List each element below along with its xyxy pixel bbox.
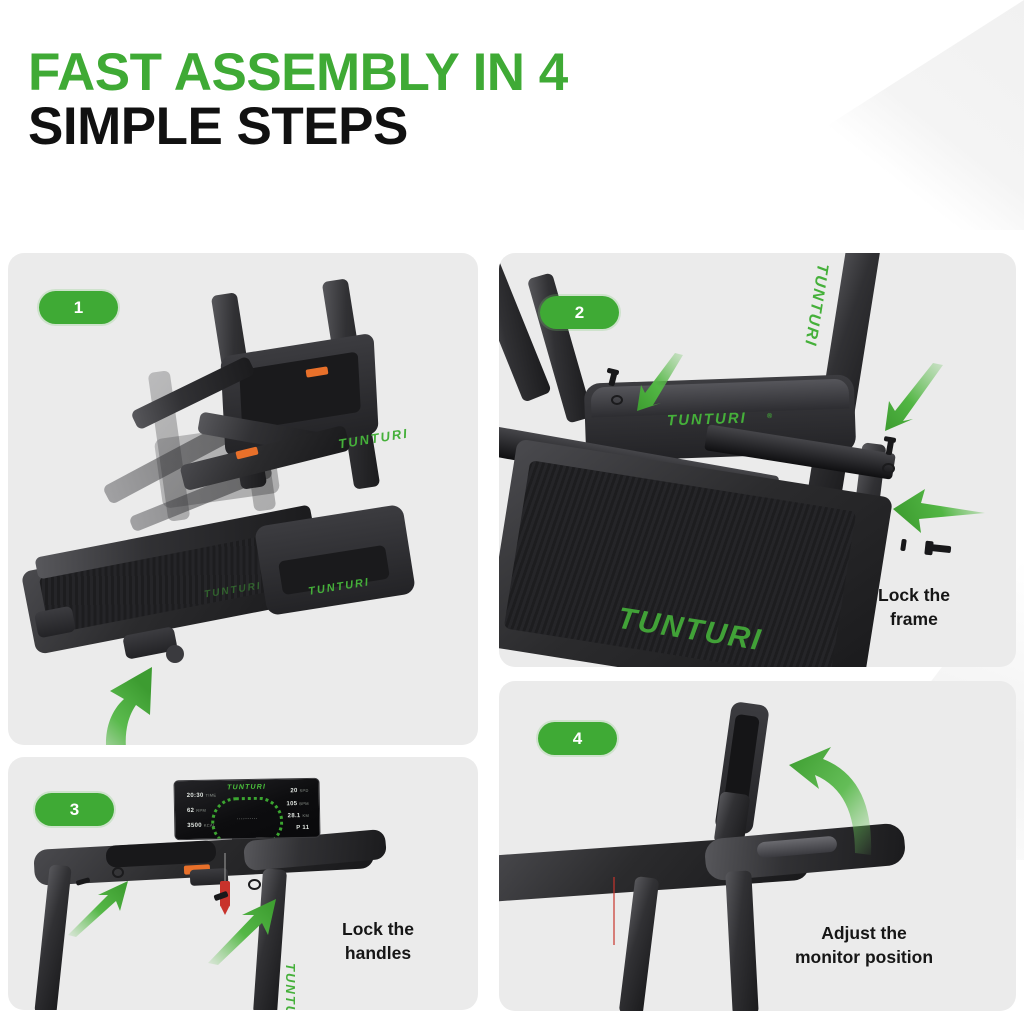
step-4-panel: 4 Adjust the monitor position	[499, 681, 1016, 1011]
registered-mark: ®	[767, 413, 774, 420]
safety-key-icon	[214, 853, 236, 919]
step-2-caption: Lock the frame	[829, 583, 999, 631]
step-3-badge: 3	[35, 793, 114, 826]
page-title: FAST ASSEMBLY IN 4 SIMPLE STEPS	[28, 47, 568, 153]
down-left-arrow-icon	[869, 363, 947, 439]
washer-icon	[882, 463, 895, 474]
bolt-head-icon	[884, 436, 897, 443]
step-2-panel: TUNTURI TUNTURI ® TUNTURI	[499, 253, 1016, 667]
washer-icon	[112, 867, 124, 878]
transport-wheel	[166, 645, 184, 663]
step-3-illustration: TUNTURI ........... 20:30 TIME 62 RPM 35…	[8, 757, 478, 1010]
readout-speed: 20 SPD	[290, 788, 308, 794]
step-4-badge: 4	[538, 722, 617, 755]
step-2-badge: 2	[540, 296, 619, 329]
readout-distance: 28.1 KM	[288, 813, 310, 819]
readout-bpm: 105 BPM	[286, 801, 309, 807]
readout-time: 20:30 TIME	[187, 793, 217, 800]
step-1-panel: TUNTURI TUNTURI TUNTURI 1 Set the frame …	[8, 253, 478, 745]
left-arrow-icon	[891, 483, 987, 539]
step-1-illustration: TUNTURI TUNTURI TUNTURI 1	[8, 253, 478, 745]
bolt-head-icon	[607, 368, 620, 376]
bolt-head-icon	[924, 541, 933, 556]
readout-program: P 11	[296, 825, 309, 831]
console-brand-logo: TUNTURI	[227, 784, 266, 792]
up-right-arrow-icon	[64, 877, 136, 939]
step-1-badge: 1	[39, 291, 118, 324]
step-4-caption: Adjust the monitor position	[729, 921, 999, 969]
bolt-icon	[900, 539, 907, 552]
step-3-caption: Lock the handles	[293, 917, 463, 965]
left-support-post	[34, 864, 72, 1010]
left-support-post	[619, 876, 660, 1011]
background-wedge-top-right	[664, 0, 1024, 230]
curved-up-right-arrow-icon	[80, 645, 220, 745]
brand-logo-post: TUNTURI	[283, 963, 298, 1010]
washer-icon	[611, 395, 623, 405]
step-3-panel: TUNTURI ........... 20:30 TIME 62 RPM 35…	[8, 757, 478, 1010]
brand-logo-post: TUNTURI	[800, 262, 831, 348]
headline-line-1: FAST ASSEMBLY IN 4	[28, 47, 568, 99]
readout-rpm: 62 RPM	[187, 808, 206, 814]
readout-kcal: 3500 KCAL	[187, 823, 215, 829]
washer-icon	[248, 879, 261, 890]
headline-line-2: SIMPLE STEPS	[28, 101, 568, 153]
console-display: TUNTURI ........... 20:30 TIME 62 RPM 35…	[173, 778, 320, 841]
safety-key-cable-icon	[607, 877, 621, 947]
right-support-post	[253, 868, 287, 1010]
track-dots: ...........	[237, 815, 258, 821]
